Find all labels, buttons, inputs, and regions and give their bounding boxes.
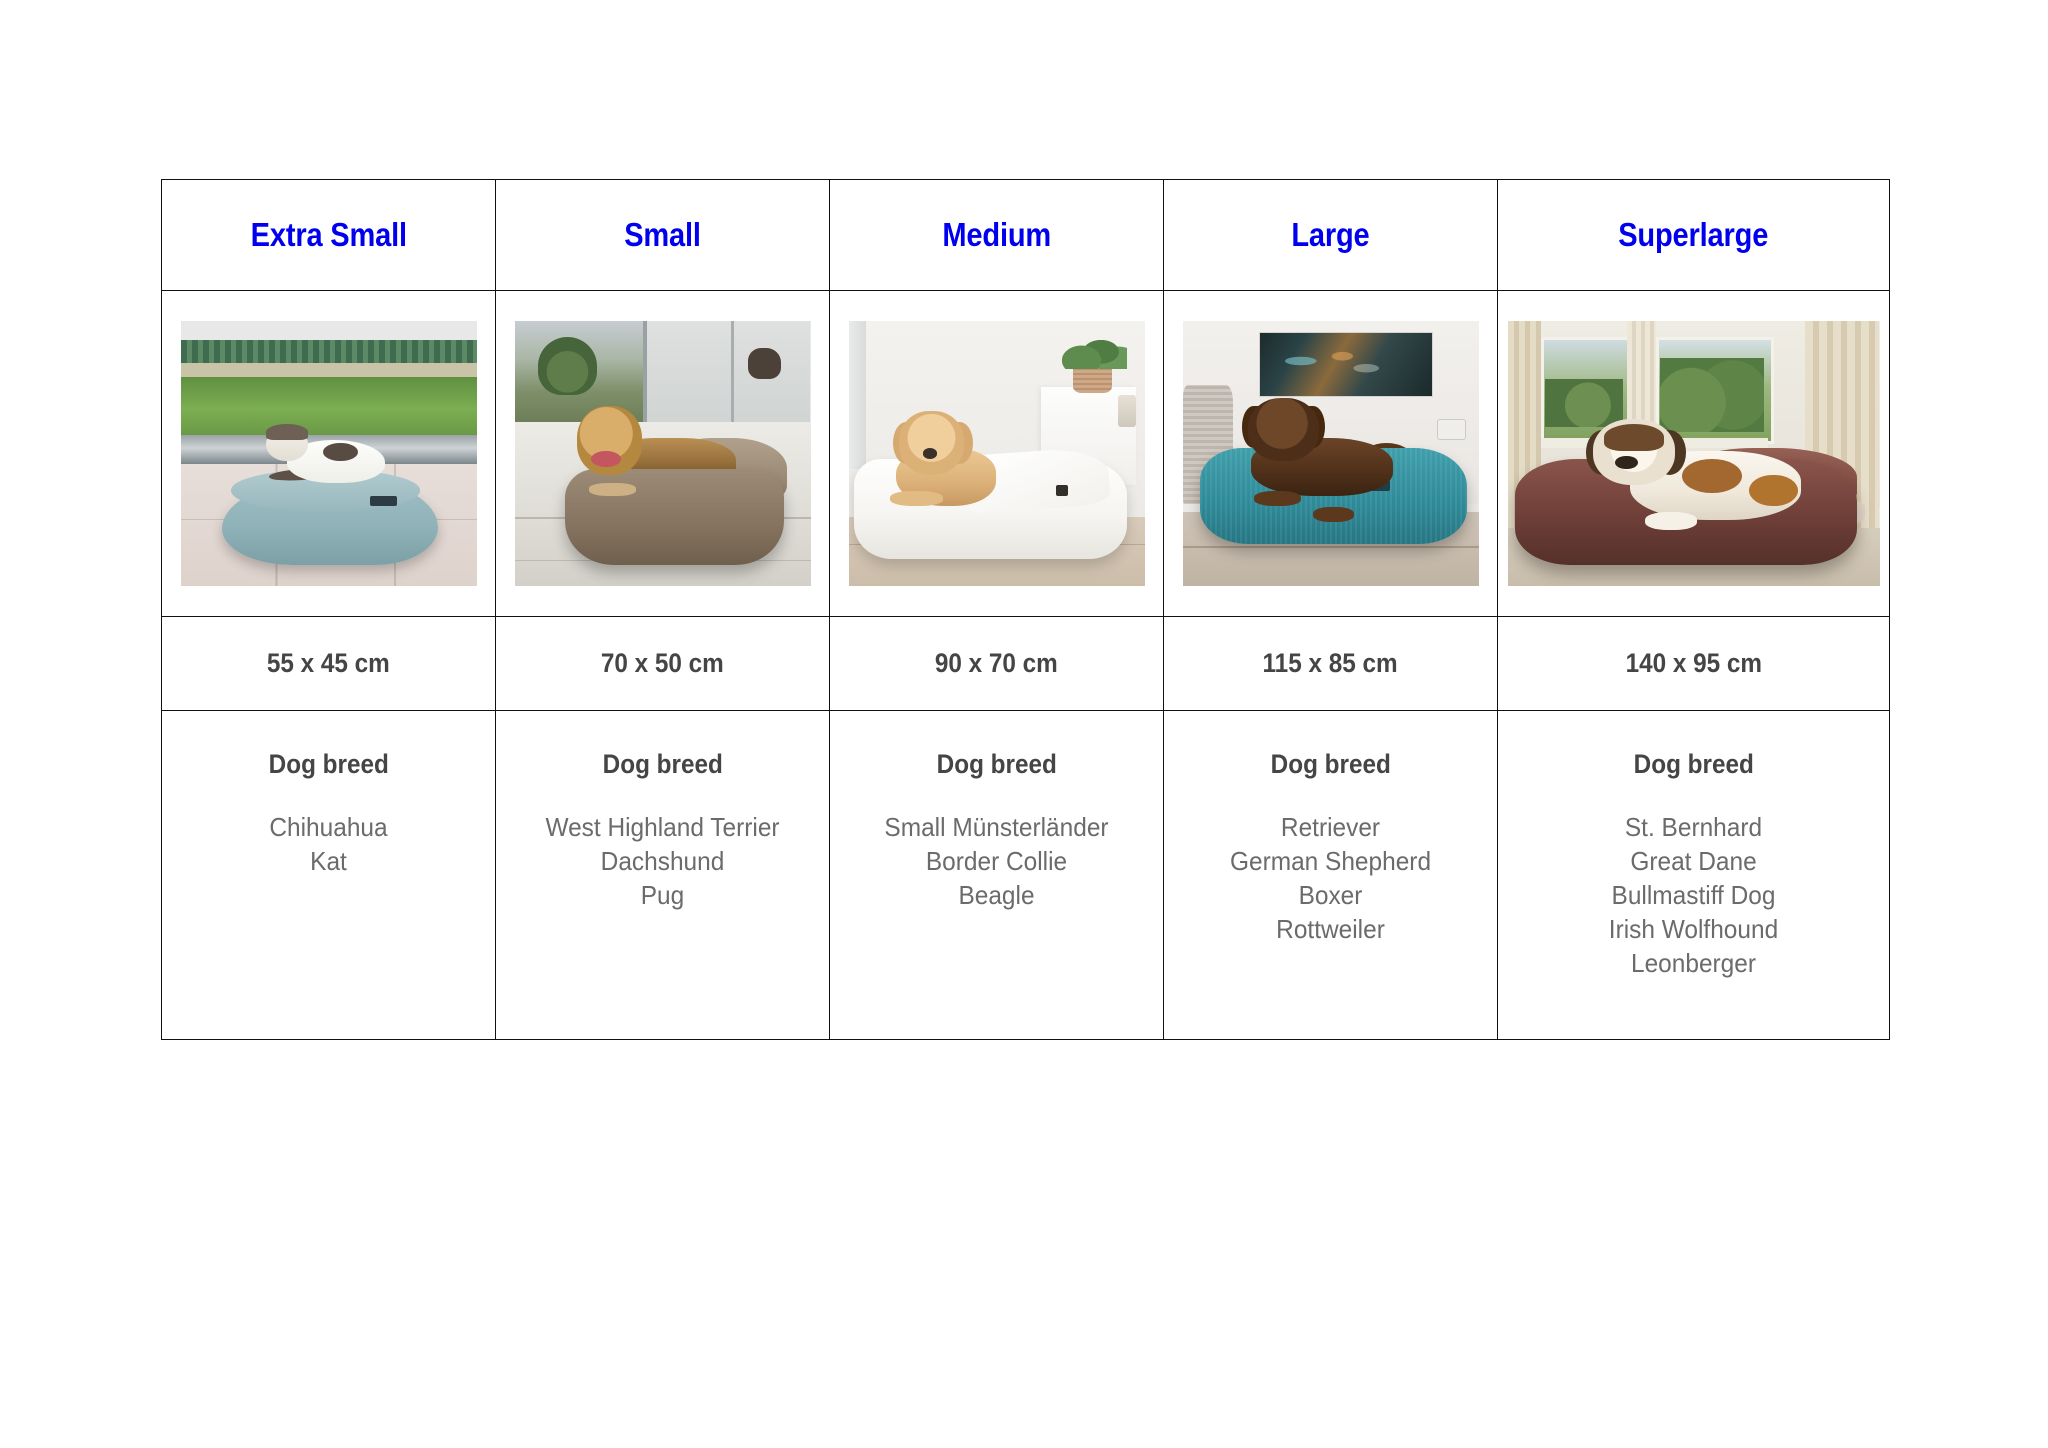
dimension-cell-large: 115 x 85 cm	[1164, 617, 1498, 711]
dog-tongue	[591, 451, 621, 467]
background-object	[748, 348, 781, 380]
scene-l	[1183, 321, 1479, 586]
scene-xl	[1508, 321, 1880, 586]
dog-front-paw-left	[1254, 491, 1301, 507]
scene-m	[849, 321, 1145, 586]
header-cell-extra-small: Extra Small	[162, 180, 496, 291]
page-canvas: Extra Small Small Medium Large Superlarg…	[0, 0, 2048, 1448]
table-dimension-row: 55 x 45 cm 70 x 50 cm 90 x 70 cm 115 x 8…	[162, 617, 1890, 711]
list-item: Retriever	[1174, 810, 1487, 844]
floor-plank-line	[1183, 546, 1479, 548]
list-item: Bullmastiff Dog	[1510, 878, 1878, 912]
list-item: Pug	[506, 878, 819, 912]
breed-section-title: Dog breed	[1270, 749, 1390, 780]
list-item: Border Collie	[840, 844, 1153, 878]
dog-fur-patch-one	[1682, 459, 1742, 493]
garden-hedge-left	[1545, 379, 1623, 427]
window-mullion-left	[643, 321, 647, 427]
list-item: Dachshund	[506, 844, 819, 878]
list-item: Small Münsterländer	[840, 810, 1153, 844]
dog-face-marking	[1604, 424, 1664, 451]
list-item: Boxer	[1174, 878, 1487, 912]
breed-section-title: Dog breed	[936, 749, 1056, 780]
puppy-paws	[890, 491, 943, 507]
dimension-label: 140 x 95 cm	[1625, 648, 1761, 679]
column-header-label: Large	[1291, 216, 1369, 254]
breed-cell-small: Dog breed West Highland Terrier Dachshun…	[496, 711, 830, 1040]
table-breed-row: Dog breed Chihuahua Kat Dog breed West H…	[162, 711, 1890, 1040]
breed-section-title: Dog breed	[1633, 749, 1753, 780]
garden-lawn	[181, 377, 477, 435]
dimension-label: 55 x 45 cm	[267, 648, 390, 679]
breed-section-title: Dog breed	[602, 749, 722, 780]
window-curtain	[849, 321, 867, 469]
dog-bed-size-table: Extra Small Small Medium Large Superlarg…	[161, 179, 1890, 1040]
table-photo-row	[162, 291, 1890, 617]
bed-brand-tag	[1056, 485, 1068, 496]
photo-cat-on-blue-bed	[181, 321, 477, 586]
breed-list: St. Bernhard Great Dane Bullmastiff Dog …	[1510, 810, 1878, 980]
scene-s	[515, 321, 811, 586]
dimension-cell-medium: 90 x 70 cm	[830, 617, 1164, 711]
list-item: German Shepherd	[1174, 844, 1487, 878]
list-item: West Highland Terrier	[506, 810, 819, 844]
photo-labrador-on-teal-bed	[1183, 321, 1479, 586]
column-header-label: Extra Small	[250, 216, 406, 254]
list-item: Chihuahua	[172, 810, 485, 844]
dimension-label: 90 x 70 cm	[935, 648, 1058, 679]
dog-front-paws	[589, 483, 636, 496]
puppy-head	[899, 411, 964, 475]
photo-cell-large	[1164, 291, 1498, 617]
list-item: Kat	[172, 844, 485, 878]
photo-cell-superlarge	[1498, 291, 1890, 617]
photo-terrier-on-brown-bed	[515, 321, 811, 586]
breed-cell-extra-small: Dog breed Chihuahua Kat	[162, 711, 496, 1040]
list-item: Leonberger	[1510, 946, 1878, 980]
breed-list: Retriever German Shepherd Boxer Rottweil…	[1174, 810, 1487, 946]
dimension-label: 115 x 85 cm	[1263, 648, 1398, 679]
photo-cell-small	[496, 291, 830, 617]
dog-front-paw-right	[1313, 507, 1354, 523]
breed-list: West Highland Terrier Dachshund Pug	[506, 810, 819, 912]
puppy-nose	[923, 448, 938, 459]
interior-background	[645, 321, 811, 427]
dimension-cell-extra-small: 55 x 45 cm	[162, 617, 496, 711]
dog-head	[1248, 398, 1319, 462]
garden-path	[181, 363, 477, 376]
dimension-label: 70 x 50 cm	[601, 648, 724, 679]
artwork-detail	[1271, 337, 1389, 385]
column-header-label: Medium	[942, 216, 1051, 254]
candle-decor	[1118, 395, 1136, 427]
dog-front-paw	[1645, 512, 1697, 531]
photo-cell-extra-small	[162, 291, 496, 617]
breed-cell-medium: Dog breed Small Münsterländer Border Col…	[830, 711, 1164, 1040]
breed-cell-large: Dog breed Retriever German Shepherd Boxe…	[1164, 711, 1498, 1040]
header-cell-small: Small	[496, 180, 830, 291]
breed-cell-superlarge: Dog breed St. Bernhard Great Dane Bullma…	[1498, 711, 1890, 1040]
wall-socket	[1437, 419, 1466, 440]
window-mullion-right	[731, 321, 735, 427]
breed-list: Chihuahua Kat	[172, 810, 485, 878]
column-header-label: Small	[624, 216, 701, 254]
photo-st-bernard-on-brown-bed	[1508, 321, 1880, 586]
header-cell-superlarge: Superlarge	[1498, 180, 1890, 291]
breed-list: Small Münsterländer Border Collie Beagle	[840, 810, 1153, 912]
garden-shrub	[538, 337, 597, 395]
garden-hedge-right	[1660, 358, 1764, 432]
bed-brand-tag	[370, 496, 397, 507]
garden-hedge	[181, 340, 477, 364]
dimension-cell-small: 70 x 50 cm	[496, 617, 830, 711]
list-item: Great Dane	[1510, 844, 1878, 878]
photo-cell-medium	[830, 291, 1164, 617]
house-plant	[1062, 326, 1127, 368]
dimension-cell-superlarge: 140 x 95 cm	[1498, 617, 1890, 711]
list-item: St. Bernhard	[1510, 810, 1878, 844]
dog-fur-patch-two	[1749, 475, 1797, 507]
photo-puppy-on-white-bed	[849, 321, 1145, 586]
table-header-row: Extra Small Small Medium Large Superlarg…	[162, 180, 1890, 291]
cat-head-marking	[266, 424, 307, 440]
header-cell-large: Large	[1164, 180, 1498, 291]
scene-xs	[181, 321, 477, 586]
list-item: Irish Wolfhound	[1510, 912, 1878, 946]
list-item: Rottweiler	[1174, 912, 1487, 946]
list-item: Beagle	[840, 878, 1153, 912]
column-header-label: Superlarge	[1619, 216, 1769, 254]
header-cell-medium: Medium	[830, 180, 1164, 291]
breed-section-title: Dog breed	[268, 749, 388, 780]
